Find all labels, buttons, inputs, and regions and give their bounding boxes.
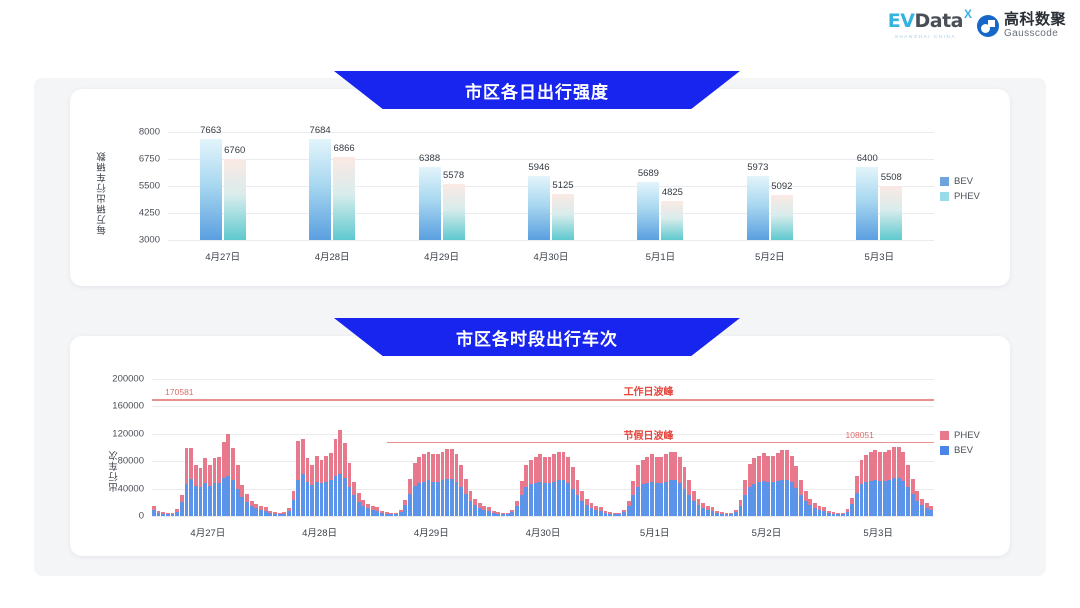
chart2-stacked-bar[interactable]: [636, 465, 640, 516]
chart2-segment-phev: [431, 454, 435, 481]
chart2-stacked-bar[interactable]: [441, 452, 445, 516]
chart2-stacked-bar[interactable]: [864, 455, 868, 516]
chart2-stacked-bar[interactable]: [445, 449, 449, 516]
chart2-stacked-bar[interactable]: [701, 503, 705, 516]
chart2-stacked-bar[interactable]: [538, 454, 542, 516]
chart2-segment-bev: [413, 486, 417, 516]
chart2-stacked-bar[interactable]: [631, 481, 635, 516]
legend-item-bev[interactable]: BEV: [940, 176, 980, 187]
legend-item-bev[interactable]: BEV: [940, 445, 980, 456]
chart2-stacked-bar[interactable]: [348, 463, 352, 516]
chart2-segment-phev: [348, 463, 352, 488]
chart1-bar-value-label: 5125: [552, 180, 573, 191]
chart2-stacked-bar[interactable]: [469, 491, 473, 516]
chart2-stacked-bar[interactable]: [920, 499, 924, 516]
chart2-stacked-bar[interactable]: [529, 460, 533, 516]
chart2-segment-phev: [529, 460, 533, 485]
chart2-stacked-bar[interactable]: [594, 506, 598, 516]
chart2-segment-phev: [804, 491, 808, 501]
chart2-stacked-bar[interactable]: [208, 465, 212, 516]
chart2-stacked-bar[interactable]: [911, 479, 915, 516]
chart-title-banner-1: 市区各日出行强度: [334, 71, 740, 109]
chart2-segment-bev: [371, 510, 375, 516]
chart2-segment-bev: [915, 501, 919, 516]
chart2-stacked-bar[interactable]: [836, 513, 840, 516]
chart2-stacked-bar[interactable]: [566, 457, 570, 516]
chart2-stacked-bar[interactable]: [385, 512, 389, 516]
chart1-bar-value-label: 5946: [528, 162, 549, 173]
chart2-stacked-bar[interactable]: [585, 499, 589, 516]
chart2-segment-bev: [580, 501, 584, 516]
chart2-stacked-bar[interactable]: [161, 512, 165, 516]
chart2-segment-bev: [715, 513, 719, 516]
chart2-stacked-bar[interactable]: [780, 450, 784, 516]
chart2-segment-bev: [780, 480, 784, 516]
chart2-stacked-bar[interactable]: [436, 454, 440, 516]
chart2-stacked-bar[interactable]: [804, 491, 808, 516]
chart1-bar-bev[interactable]: 5973: [747, 176, 769, 240]
chart2-segment-phev: [445, 449, 449, 479]
chart2-stacked-bar[interactable]: [175, 509, 179, 516]
chart2-stacked-bar[interactable]: [748, 464, 752, 516]
chart2-stacked-bar[interactable]: [669, 452, 673, 516]
chart2-stacked-bar[interactable]: [329, 453, 333, 516]
chart2-stacked-bar[interactable]: [217, 457, 221, 516]
chart2-segment-phev: [552, 454, 556, 481]
chart2-segment-bev: [878, 481, 882, 516]
chart2-stacked-bar[interactable]: [678, 457, 682, 516]
chart2-stacked-bar[interactable]: [850, 498, 854, 516]
chart2-stacked-bar[interactable]: [562, 452, 566, 516]
chart1-bar-bev[interactable]: 6400: [856, 167, 878, 240]
chart2-segment-bev: [166, 514, 170, 516]
chart2-segment-bev: [161, 514, 165, 516]
chart2-stacked-bar[interactable]: [254, 504, 258, 516]
chart2-stacked-bar[interactable]: [343, 443, 347, 516]
chart2-stacked-bar[interactable]: [771, 456, 775, 516]
chart2-segment-bev: [794, 488, 798, 516]
evdata-wordmark-data: Data: [914, 10, 963, 32]
chart2-stacked-bar[interactable]: [496, 512, 500, 516]
chart2-segment-bev: [287, 511, 291, 516]
chart2-segment-phev: [427, 452, 431, 481]
chart2-stacked-bar[interactable]: [534, 457, 538, 516]
chart2-segment-phev: [538, 454, 542, 481]
chart2-stacked-bar[interactable]: [427, 452, 431, 516]
chart2-stacked-bar[interactable]: [199, 468, 203, 516]
chart2-stacked-bar[interactable]: [892, 447, 896, 516]
chart2-stacked-bar[interactable]: [706, 506, 710, 516]
chart1-bar-bev[interactable]: 5689: [637, 182, 659, 240]
chart2-stacked-bar[interactable]: [590, 503, 594, 516]
chart2-stacked-bar[interactable]: [604, 511, 608, 516]
chart2-stacked-bar[interactable]: [873, 450, 877, 516]
chart2-stacked-bar[interactable]: [524, 465, 528, 516]
chart2-y-tick-label: 80000: [118, 456, 144, 467]
chart2-segment-bev: [236, 489, 240, 516]
chart2-stacked-bar[interactable]: [473, 499, 477, 516]
chart2-segment-bev: [873, 480, 877, 516]
chart2-stacked-bar[interactable]: [231, 448, 235, 517]
chart2-stacked-bar[interactable]: [617, 513, 621, 516]
chart2-segment-bev: [334, 476, 338, 516]
chart1-bar-bev[interactable]: 7663: [200, 139, 222, 240]
chart2-stacked-bar[interactable]: [692, 491, 696, 516]
chart2-segment-phev: [226, 434, 230, 476]
chart2-stacked-bar[interactable]: [855, 476, 859, 516]
chart2-stacked-bar[interactable]: [464, 479, 468, 516]
chart1-bar-phev[interactable]: 5125: [552, 194, 574, 240]
chart2-stacked-bar[interactable]: [557, 452, 561, 516]
chart2-stacked-bar[interactable]: [357, 493, 361, 516]
chart2-segment-bev: [226, 476, 230, 516]
chart2-stacked-bar[interactable]: [222, 442, 226, 516]
chart2-stacked-bar[interactable]: [250, 501, 254, 516]
chart2-stacked-bar[interactable]: [580, 491, 584, 516]
chart2-stacked-bar[interactable]: [352, 482, 356, 516]
chart2-stacked-bar[interactable]: [306, 458, 310, 516]
chart2-stacked-bar[interactable]: [371, 506, 375, 516]
chart2-segment-bev: [557, 480, 561, 516]
chart2-segment-phev: [338, 430, 342, 474]
chart2-stacked-bar[interactable]: [929, 506, 933, 516]
chart2-segment-phev: [357, 493, 361, 502]
chart2-stacked-bar[interactable]: [543, 457, 547, 516]
chart2-segment-phev: [231, 448, 235, 481]
chart2-stacked-bar[interactable]: [478, 503, 482, 516]
chart2-stacked-bar[interactable]: [664, 454, 668, 516]
chart2-stacked-bar[interactable]: [324, 456, 328, 516]
chart2-stacked-bar[interactable]: [860, 460, 864, 516]
chart2-stacked-bar[interactable]: [510, 510, 514, 516]
chart2-stacked-bar[interactable]: [296, 441, 300, 516]
chart2-stacked-bar[interactable]: [389, 513, 393, 516]
chart2-segment-phev: [785, 450, 789, 479]
chart2-segment-phev: [417, 457, 421, 483]
chart2-stacked-bar[interactable]: [194, 465, 198, 516]
chart2-segment-bev: [534, 483, 538, 516]
chart2-stacked-bar[interactable]: [613, 513, 617, 516]
chart2-stacked-bar[interactable]: [268, 511, 272, 516]
chart2-x-tick-label: 4月29日: [414, 525, 449, 539]
chart2-stacked-bar[interactable]: [734, 510, 738, 516]
chart1-bar-phev[interactable]: 6866: [333, 157, 355, 241]
chart2-legend: PHEV BEV: [940, 430, 980, 460]
chart2-segment-bev: [473, 505, 477, 516]
chart2-stacked-bar[interactable]: [413, 463, 417, 516]
chart2-segment-bev: [217, 483, 221, 516]
chart2-stacked-bar[interactable]: [236, 465, 240, 516]
chart2-stacked-bar[interactable]: [203, 458, 207, 516]
chart2-stacked-bar[interactable]: [887, 450, 891, 516]
chart2-stacked-bar[interactable]: [282, 512, 286, 516]
chart2-segment-bev: [669, 480, 673, 516]
chart2-stacked-bar[interactable]: [450, 449, 454, 516]
chart2-segment-bev: [645, 483, 649, 516]
chart2-stacked-bar[interactable]: [762, 453, 766, 516]
legend-item-phev[interactable]: PHEV: [940, 430, 980, 441]
chart1-legend: BEV PHEV: [940, 176, 980, 206]
chart2-segment-bev: [604, 513, 608, 516]
chart2-stacked-bar[interactable]: [846, 509, 850, 516]
chart2-segment-phev: [780, 450, 784, 479]
chart2-stacked-bar[interactable]: [189, 448, 193, 517]
chart2-segment-bev: [245, 502, 249, 516]
chart2-stacked-bar[interactable]: [520, 481, 524, 516]
chart2-segment-bev: [752, 484, 756, 516]
chart2-segment-bev: [617, 514, 621, 516]
chart2-segment-bev: [361, 506, 365, 516]
chart2-stacked-bar[interactable]: [925, 503, 929, 516]
chart2-stacked-bar[interactable]: [338, 430, 342, 516]
chart2-segment-bev: [189, 479, 193, 516]
chart2-segment-bev: [599, 511, 603, 516]
chart2-stacked-bar[interactable]: [548, 457, 552, 516]
chart1-bar-phev[interactable]: 4825: [661, 201, 683, 240]
chart2-stacked-bar[interactable]: [259, 506, 263, 516]
chart2-stacked-bar[interactable]: [673, 452, 677, 516]
chart2-stacked-bar[interactable]: [576, 480, 580, 516]
chart2-segment-bev: [901, 481, 905, 516]
chart1-x-tick-label: 4月27日: [205, 249, 240, 263]
chart1-x-tick-label: 5月1日: [646, 249, 676, 263]
chart2-segment-bev: [883, 481, 887, 516]
chart2-segment-phev: [664, 454, 668, 481]
chart2-stacked-bar[interactable]: [813, 503, 817, 516]
chart2-stacked-bar[interactable]: [915, 491, 919, 516]
chart1-bar-value-label: 5578: [443, 170, 464, 181]
chart2-segment-bev: [152, 510, 156, 516]
chart2-stacked-bar[interactable]: [501, 513, 505, 516]
chart2-y-tick-label: 0: [139, 511, 144, 522]
chart2-stacked-bar[interactable]: [380, 511, 384, 516]
chart2-stacked-bar[interactable]: [901, 452, 905, 516]
chart2-stacked-bar[interactable]: [166, 513, 170, 516]
chart2-stacked-bar[interactable]: [827, 511, 831, 516]
chart2-stacked-bar[interactable]: [492, 511, 496, 516]
chart2-stacked-bar[interactable]: [455, 454, 459, 516]
chart2-stacked-bar[interactable]: [808, 499, 812, 516]
chart2-segment-bev: [659, 483, 663, 516]
chart2-stacked-bar[interactable]: [832, 512, 836, 516]
chart2-stacked-bar[interactable]: [394, 513, 398, 516]
chart2-peak-value-label-108051: 108051: [846, 430, 874, 440]
chart2-stacked-bar[interactable]: [725, 513, 729, 516]
chart2-segment-bev: [427, 480, 431, 516]
chart2-segment-bev: [264, 511, 268, 516]
chart2-stacked-bar[interactable]: [213, 458, 217, 516]
chart2-segment-bev: [520, 495, 524, 516]
chart1-y-axis-label: 每万辆出行车辆数: [96, 140, 110, 235]
legend-label-phev: PHEV: [954, 430, 980, 441]
chart2-segment-phev: [669, 452, 673, 481]
chart2-segment-bev: [701, 508, 705, 516]
chart2-stacked-bar[interactable]: [766, 456, 770, 516]
chart2-stacked-bar[interactable]: [799, 480, 803, 516]
chart2-stacked-bar[interactable]: [752, 458, 756, 516]
chart2-segment-bev: [180, 502, 184, 516]
chart2-stacked-bar[interactable]: [883, 452, 887, 516]
chart1-bar-value-label: 5092: [771, 181, 792, 192]
chart1-bar-bev[interactable]: 7684: [309, 139, 331, 240]
chart2-stacked-bar[interactable]: [776, 453, 780, 516]
chart1-bar-phev[interactable]: 6760: [224, 159, 246, 240]
chart2-stacked-bar[interactable]: [818, 506, 822, 516]
chart2-segment-bev: [822, 511, 826, 516]
gausscode-mark-icon: [977, 15, 999, 37]
legend-label-bev: BEV: [954, 445, 973, 456]
chart1-bar-phev[interactable]: 5092: [771, 195, 793, 240]
chart2-peak-value-label-170581: 170581: [165, 387, 193, 397]
chart2-stacked-bar[interactable]: [683, 467, 687, 516]
chart2-stacked-bar[interactable]: [720, 512, 724, 516]
chart2-segment-phev: [915, 491, 919, 501]
chart2-segment-bev: [278, 514, 282, 516]
chart2-segment-phev: [240, 485, 244, 497]
legend-swatch-phev-icon: [940, 431, 949, 440]
chart1-bar-phev[interactable]: 5578: [443, 184, 465, 240]
chart2-stacked-bar[interactable]: [897, 447, 901, 516]
chart2-stacked-bar[interactable]: [794, 466, 798, 516]
chart2-stacked-bar[interactable]: [790, 456, 794, 516]
chart1-bar-value-label: 7663: [200, 125, 221, 136]
chart2-stacked-bar[interactable]: [627, 501, 631, 516]
chart2-stacked-bar[interactable]: [240, 485, 244, 517]
chart2-stacked-bar[interactable]: [361, 500, 365, 516]
chart2-segment-bev: [455, 482, 459, 516]
chart2-stacked-bar[interactable]: [645, 457, 649, 516]
chart2-stacked-bar[interactable]: [841, 513, 845, 516]
chart2-stacked-bar[interactable]: [599, 507, 603, 516]
chart2-segment-bev: [808, 505, 812, 516]
chart2-stacked-bar[interactable]: [334, 439, 338, 516]
chart2-segment-phev: [776, 453, 780, 481]
chart2-stacked-bar[interactable]: [366, 504, 370, 516]
chart2-stacked-bar[interactable]: [822, 507, 826, 516]
chart2-stacked-bar[interactable]: [641, 460, 645, 516]
chart2-stacked-bar[interactable]: [245, 494, 249, 516]
chart2-y-tick-label: 40000: [118, 483, 144, 494]
chart2-stacked-bar[interactable]: [408, 479, 412, 516]
chart2-stacked-bar[interactable]: [906, 465, 910, 516]
chart2-stacked-bar[interactable]: [310, 465, 314, 516]
chart2-stacked-bar[interactable]: [608, 512, 612, 516]
chart2-stacked-bar[interactable]: [697, 499, 701, 516]
chart2-stacked-bar[interactable]: [180, 495, 184, 516]
chart2-stacked-bar[interactable]: [287, 508, 291, 516]
chart2-segment-bev: [720, 514, 724, 516]
chart2-stacked-bar[interactable]: [403, 500, 407, 516]
chart2-segment-bev: [678, 483, 682, 516]
chart2-stacked-bar[interactable]: [506, 513, 510, 516]
chart2-stacked-bar[interactable]: [278, 513, 282, 516]
chart2-stacked-bar[interactable]: [878, 452, 882, 516]
chart2-stacked-bar[interactable]: [459, 465, 463, 516]
chart2-segment-bev: [268, 513, 272, 516]
chart2-stacked-bar[interactable]: [417, 457, 421, 516]
chart2-segment-phev: [580, 491, 584, 501]
chart2-stacked-bar[interactable]: [431, 454, 435, 516]
chart2-y-tick-label: 120000: [112, 428, 144, 439]
chart2-stacked-bar[interactable]: [729, 513, 733, 516]
chart2-stacked-bar[interactable]: [171, 513, 175, 516]
chart2-segment-phev: [455, 454, 459, 481]
chart2-stacked-bar[interactable]: [292, 491, 296, 516]
chart2-segment-bev: [436, 482, 440, 516]
chart1-bar-group: 597350925月2日: [715, 132, 824, 240]
chart2-segment-phev: [566, 457, 570, 483]
chart2-stacked-bar[interactable]: [152, 506, 156, 516]
chart2-segment-bev: [431, 482, 435, 516]
chart2-stacked-bar[interactable]: [315, 456, 319, 516]
chart2-stacked-bar[interactable]: [571, 467, 575, 516]
chart2-stacked-bar[interactable]: [739, 500, 743, 516]
chart2-segment-bev: [231, 480, 235, 516]
chart2-stacked-bar[interactable]: [185, 448, 189, 517]
chart2-stacked-bar[interactable]: [487, 507, 491, 516]
chart2-reference-line-holiday: [387, 442, 934, 444]
chart2-segment-bev: [469, 501, 473, 516]
chart2-stacked-bar[interactable]: [273, 512, 277, 516]
chart2-stacked-bar[interactable]: [715, 511, 719, 516]
chart2-segment-bev: [641, 484, 645, 516]
chart2-segment-bev: [301, 474, 305, 516]
chart2-stacked-bar[interactable]: [757, 456, 761, 516]
gausscode-name-cn: 高科数聚: [1004, 12, 1066, 28]
chart2-segment-bev: [804, 501, 808, 516]
chart2-stacked-bar[interactable]: [785, 450, 789, 516]
chart2-stacked-bar[interactable]: [622, 510, 626, 516]
chart2-segment-bev: [655, 483, 659, 516]
chart2-segment-bev: [813, 508, 817, 516]
chart2-stacked-bar[interactable]: [743, 480, 747, 516]
chart2-stacked-bar[interactable]: [515, 501, 519, 516]
chart2-stacked-bar[interactable]: [320, 460, 324, 516]
chart2-stacked-bar[interactable]: [687, 480, 691, 516]
chart2-stacked-bar[interactable]: [711, 507, 715, 516]
chart1-bar-bev[interactable]: 5946: [528, 176, 550, 240]
chart2-stacked-bar[interactable]: [650, 454, 654, 516]
chart2-stacked-bar[interactable]: [552, 454, 556, 516]
chart2-stacked-bar[interactable]: [482, 506, 486, 516]
legend-item-phev[interactable]: PHEV: [940, 191, 980, 202]
chart2-segment-phev: [576, 480, 580, 494]
chart2-stacked-bar[interactable]: [659, 457, 663, 516]
chart2-segment-bev: [543, 483, 547, 516]
chart2-stacked-bar[interactable]: [226, 434, 230, 516]
chart2-segment-phev: [245, 494, 249, 502]
chart2-segment-bev: [846, 512, 850, 516]
chart1-x-tick-label: 5月3日: [864, 249, 894, 263]
chart2-stacked-bar[interactable]: [157, 511, 161, 516]
chart1-bar-phev[interactable]: 5508: [880, 186, 902, 240]
chart2-stacked-bar[interactable]: [264, 507, 268, 516]
chart2-stacked-bar[interactable]: [422, 454, 426, 516]
chart2-segment-bev: [529, 484, 533, 516]
chart2-stacked-bar[interactable]: [375, 507, 379, 516]
chart1-y-tick-label: 6750: [139, 154, 160, 165]
evdata-logo: EVData X SHANGHAI CHINA: [888, 12, 963, 39]
chart2-segment-bev: [860, 484, 864, 516]
chart2-stacked-bar[interactable]: [869, 452, 873, 516]
chart2-stacked-bar[interactable]: [301, 439, 305, 516]
chart2-segment-bev: [538, 482, 542, 516]
chart2-segment-bev: [329, 480, 333, 516]
chart2-stacked-bar[interactable]: [655, 457, 659, 516]
chart2-segment-phev: [636, 465, 640, 487]
chart1-bar-bev[interactable]: 6388: [419, 167, 441, 240]
chart2-stacked-bar[interactable]: [399, 510, 403, 516]
